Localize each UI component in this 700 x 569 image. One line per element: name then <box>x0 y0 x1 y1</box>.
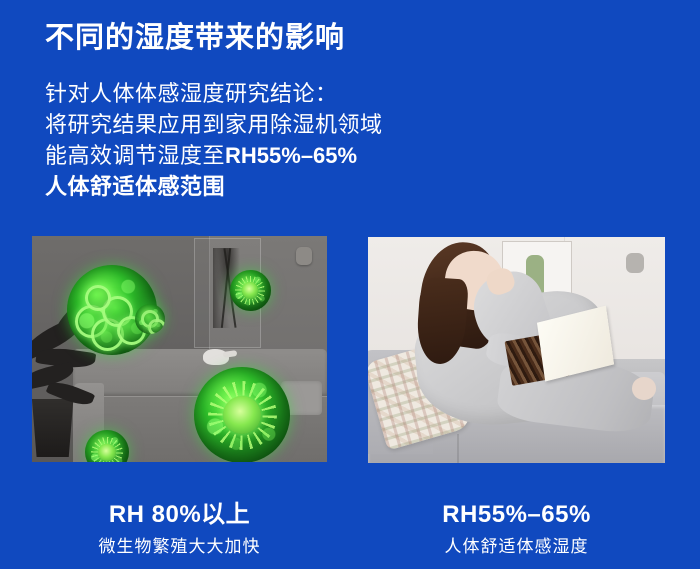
high-humidity-caption-title: RH 80%以上 <box>32 500 327 530</box>
microbe-ring <box>102 296 133 327</box>
high-humidity-photo <box>32 236 327 462</box>
bright-living-room-scene <box>368 237 665 463</box>
body-copy-block: 针对人体体感湿度研究结论： 将研究结果应用到家用除湿机领域 能高效调节湿度至RH… <box>45 78 465 202</box>
dim-living-room-scene <box>32 236 327 462</box>
microbe-sphere-floor <box>85 430 129 462</box>
microbe-sphere-small <box>230 270 271 311</box>
comfort-humidity-caption-subtitle: 人体舒适体感湿度 <box>368 534 665 560</box>
body-line-2: 将研究结果应用到家用除湿机领域 <box>45 109 465 140</box>
microbe-sphere-bottom <box>194 367 290 462</box>
microbe-ring <box>85 285 111 311</box>
microbe-spikes <box>235 276 265 306</box>
body-line-3: 能高效调节湿度至RH55%–65% <box>45 140 465 171</box>
microbe-spikes <box>208 381 277 450</box>
body-line-3-prefix: 能高效调节湿度至 <box>45 143 225 168</box>
body-line-1: 针对人体体感湿度研究结论： <box>45 78 465 109</box>
microbe-core <box>242 282 258 298</box>
microbe-ring <box>75 305 108 338</box>
microbe-sphere-edge <box>135 304 165 334</box>
humidity-range-highlight: RH55%–65% <box>225 143 357 168</box>
high-humidity-caption-subtitle: 微生物繁殖大大加快 <box>32 534 327 560</box>
microbe-core <box>223 396 261 434</box>
sofa-seam <box>457 434 459 463</box>
woman-foot <box>632 377 656 400</box>
comfort-humidity-photo <box>368 237 665 463</box>
comfort-humidity-caption-title: RH55%–65% <box>368 500 665 530</box>
wall-thermostat-icon <box>296 247 312 265</box>
bird-ornament <box>203 349 229 365</box>
high-humidity-caption: RH 80%以上 微生物繁殖大大加快 <box>32 500 327 560</box>
humidity-effect-poster: 不同的湿度带来的影响 针对人体体感湿度研究结论： 将研究结果应用到家用除湿机领域… <box>0 0 700 569</box>
body-line-4: 人体舒适体感范围 <box>45 171 465 202</box>
microbe-ring <box>141 310 159 328</box>
microbe-core <box>98 444 116 462</box>
microbe-spikes <box>91 437 123 462</box>
microbe-ring <box>91 318 124 351</box>
wall-thermostat-icon <box>626 253 644 273</box>
comfort-humidity-caption: RH55%–65% 人体舒适体感湿度 <box>368 500 665 560</box>
microbe-ring <box>148 319 165 334</box>
page-title: 不同的湿度带来的影响 <box>45 18 345 58</box>
